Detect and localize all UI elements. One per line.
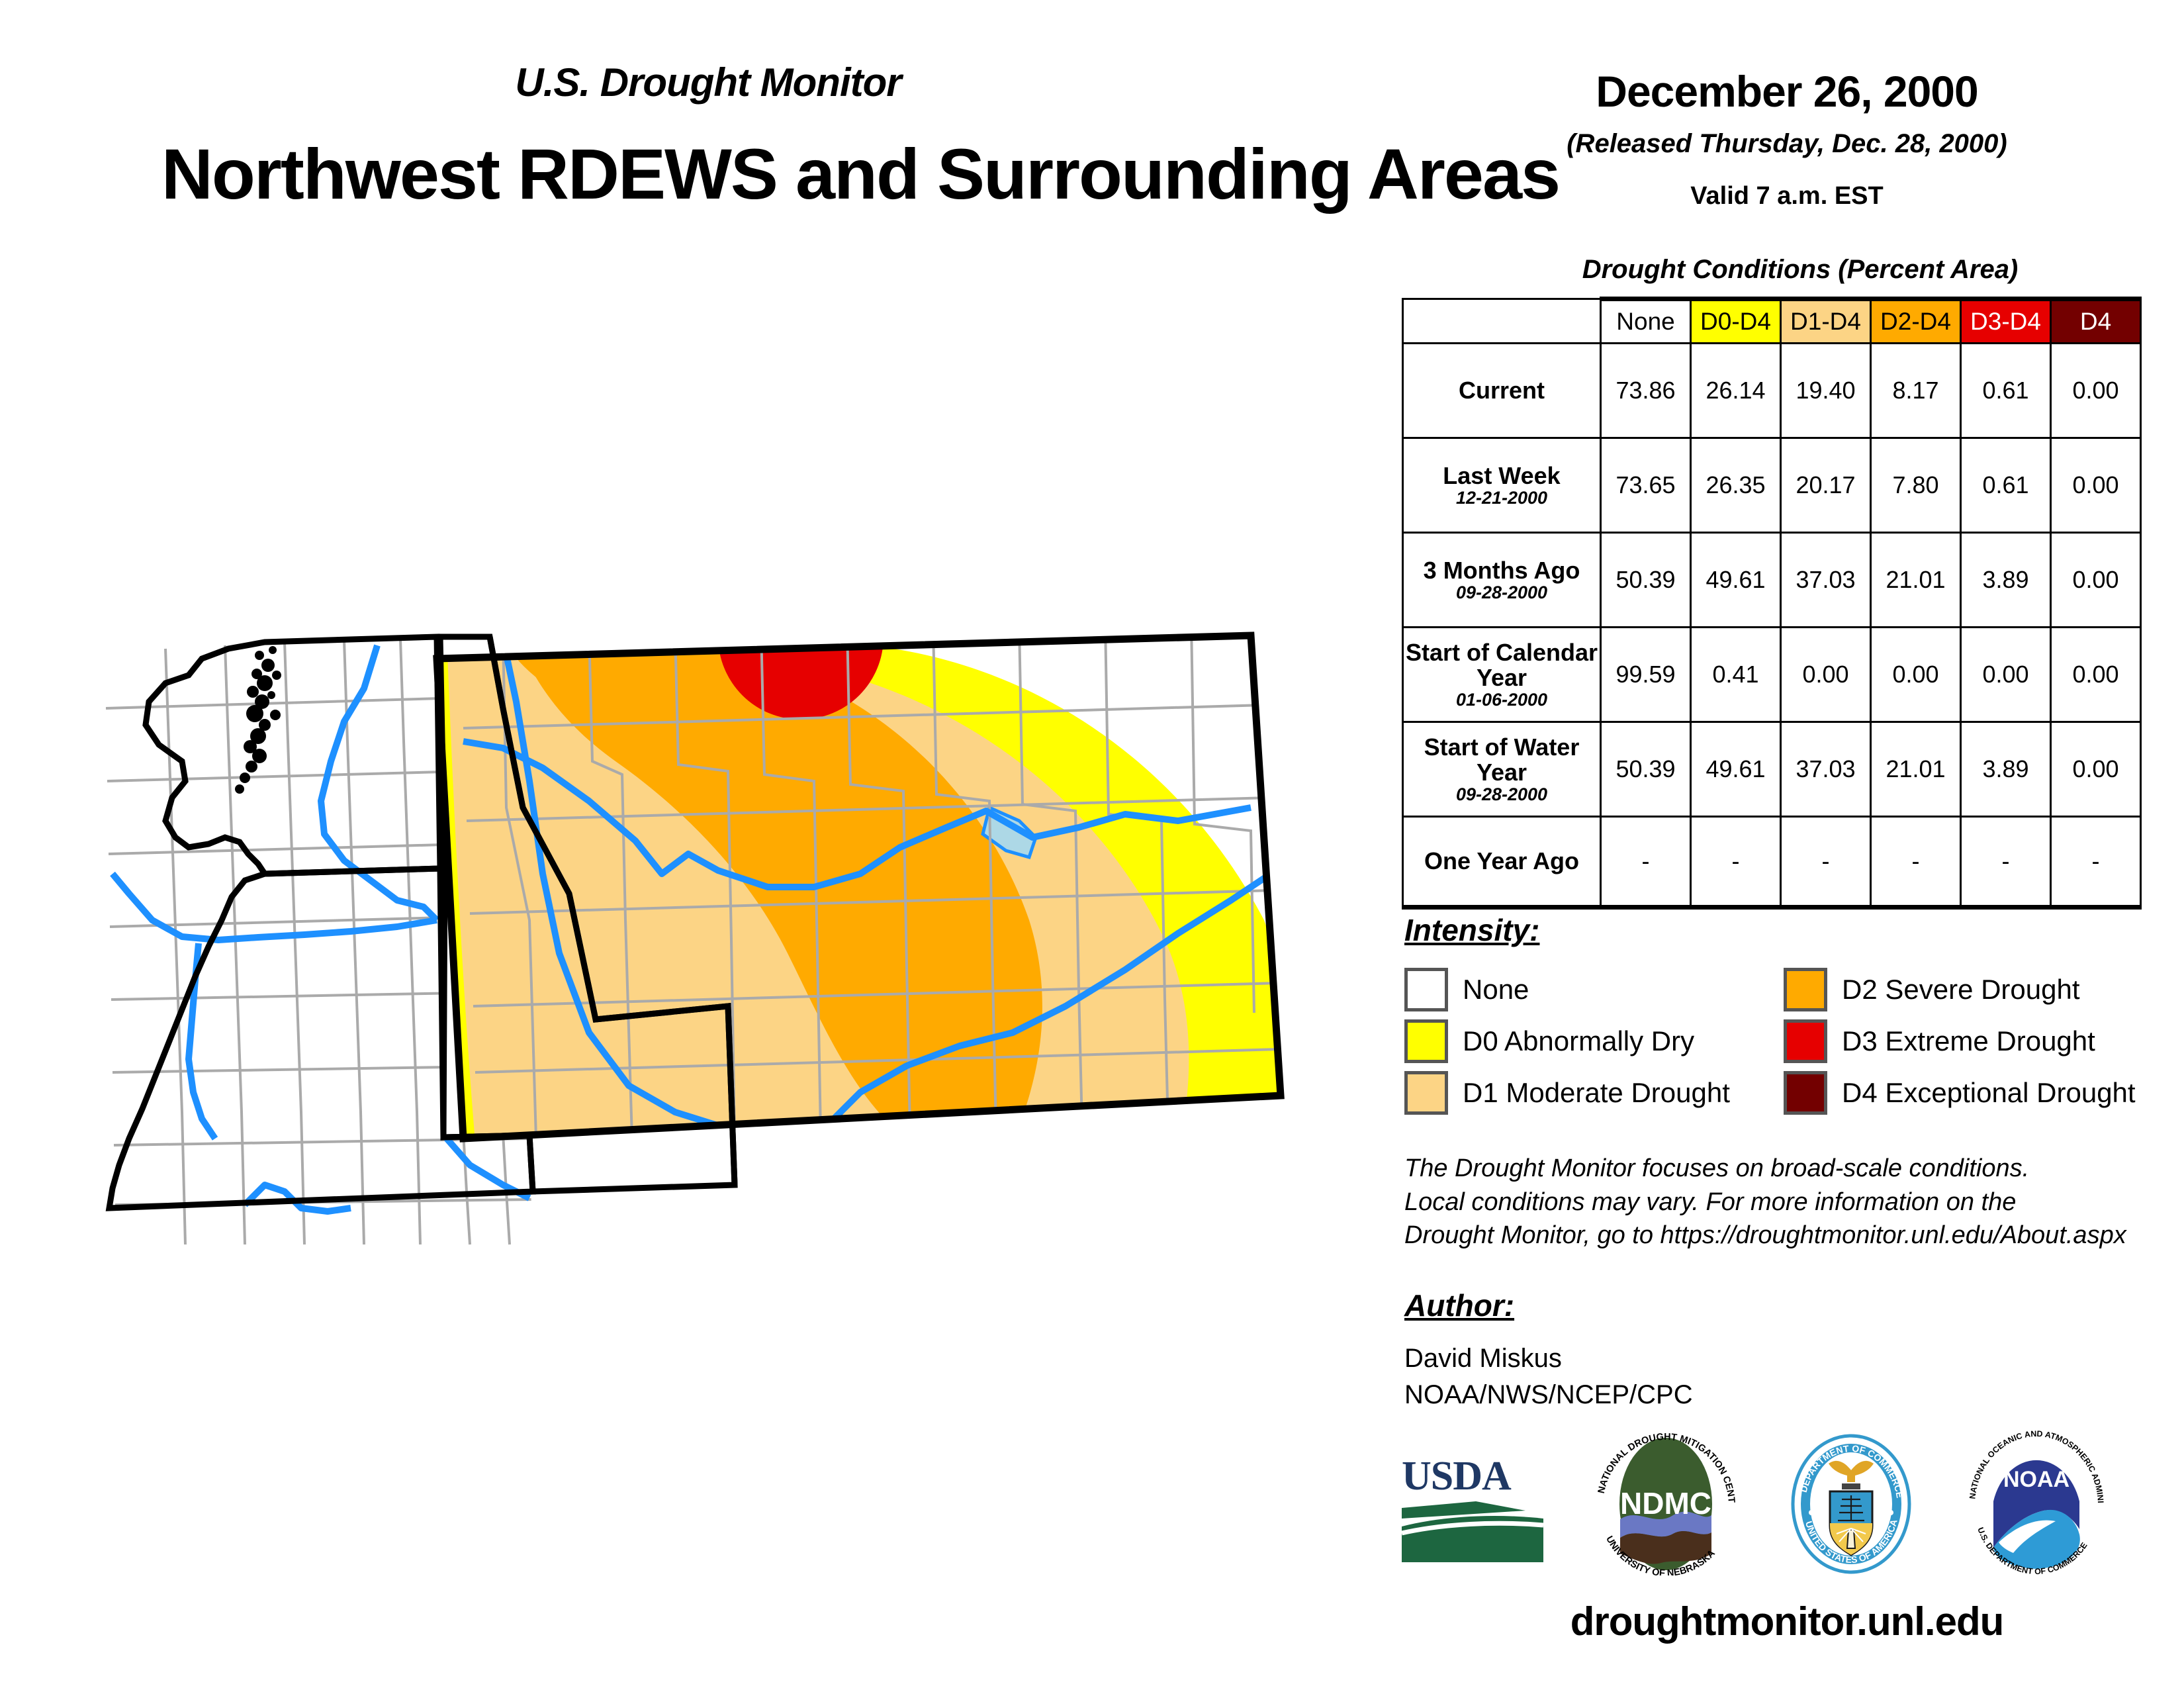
table-header-row: None D0-D4 D1-D4 D2-D4 D3-D4 D4 (1403, 299, 2141, 344)
column-header-d4: D4 (2051, 299, 2141, 344)
row-label-text: Start of Calendar Year (1406, 639, 1598, 691)
column-header-none: None (1601, 299, 1691, 344)
cell-wy-d4: 0.00 (2051, 722, 2141, 817)
cell-cy-d4: 0.00 (2051, 628, 2141, 722)
legend-swatch-d4 (1784, 1071, 1827, 1115)
row-label-date: 09-28-2000 (1405, 583, 1598, 602)
legend-item-d3: D3 Extreme Drought (1784, 1019, 2095, 1063)
row-label-one-year-ago: One Year Ago (1403, 817, 1601, 908)
row-label-text: One Year Ago (1424, 847, 1579, 874)
legend-item-d4: D4 Exceptional Drought (1784, 1071, 2136, 1115)
column-header-d0-d4: D0-D4 (1691, 299, 1781, 344)
author-name: David Miskus (1404, 1344, 1562, 1374)
cell-wy-d2: 21.01 (1871, 722, 1961, 817)
disclaimer-line-2: Local conditions may vary. For more info… (1404, 1186, 2126, 1219)
cell-1yr-d3: - (1961, 817, 2051, 908)
legend-label-d4: D4 Exceptional Drought (1842, 1077, 2136, 1109)
cell-cy-d0: 0.41 (1691, 628, 1781, 722)
cell-wy-d0: 49.61 (1691, 722, 1781, 817)
cell-3mo-none: 50.39 (1601, 533, 1691, 628)
disclaimer-line-3: Drought Monitor, go to https://droughtmo… (1404, 1219, 2126, 1252)
disclaimer-line-1: The Drought Monitor focuses on broad-sca… (1404, 1152, 2126, 1186)
cell-current-d0: 26.14 (1691, 344, 1781, 438)
table-row: Current 73.86 26.14 19.40 8.17 0.61 0.00 (1403, 344, 2141, 438)
row-label-3-months-ago: 3 Months Ago 09-28-2000 (1403, 533, 1601, 628)
drought-conditions-table: None D0-D4 D1-D4 D2-D4 D3-D4 D4 Current … (1402, 297, 2142, 910)
ndmc-logo-text: NDMC (1620, 1486, 1711, 1521)
legend-swatch-d3 (1784, 1019, 1827, 1063)
cell-1yr-d0: - (1691, 817, 1781, 908)
cell-lastweek-d0: 26.35 (1691, 438, 1781, 533)
table-row: Start of Water Year 09-28-2000 50.39 49.… (1403, 722, 2141, 817)
cell-wy-d1: 37.03 (1781, 722, 1871, 817)
noaa-logo: NOAA NATIONAL OCEANIC AND ATMOSPHERIC AD… (1959, 1430, 2115, 1575)
cell-wy-d3: 3.89 (1961, 722, 2051, 817)
legend-swatch-d0 (1404, 1019, 1448, 1063)
table-row: Start of Calendar Year 01-06-2000 99.59 … (1403, 628, 2141, 722)
legend-label-d1: D1 Moderate Drought (1463, 1077, 1730, 1109)
footer-url[interactable]: droughtmonitor.unl.edu (1456, 1599, 2118, 1644)
column-header-d1-d4: D1-D4 (1781, 299, 1871, 344)
row-label-text: Last Week (1443, 462, 1560, 489)
cell-3mo-d4: 0.00 (2051, 533, 2141, 628)
doc-logo: DEPARTMENT OF COMMERCE UNITED STATES OF … (1777, 1433, 1926, 1575)
cell-3mo-d1: 37.03 (1781, 533, 1871, 628)
table-caption: Drought Conditions (Percent Area) (1502, 255, 2098, 285)
legend-item-d1: D1 Moderate Drought (1404, 1071, 1730, 1115)
row-label-text: Start of Water Year (1424, 733, 1580, 786)
cell-wy-none: 50.39 (1601, 722, 1691, 817)
row-label-date: 01-06-2000 (1405, 690, 1598, 709)
release-date: (Released Thursday, Dec. 28, 2000) (1456, 129, 2118, 159)
legend-label-d3: D3 Extreme Drought (1842, 1025, 2095, 1057)
cell-1yr-none: - (1601, 817, 1691, 908)
column-header-d3-d4: D3-D4 (1961, 299, 2051, 344)
legend-item-d0: D0 Abnormally Dry (1404, 1019, 1694, 1063)
header-spacer (1403, 299, 1601, 344)
cell-current-d3: 0.61 (1961, 344, 2051, 438)
cell-1yr-d4: - (2051, 817, 2141, 908)
map-date: December 26, 2000 (1456, 66, 2118, 117)
cell-lastweek-d3: 0.61 (1961, 438, 2051, 533)
legend-swatch-none (1404, 968, 1448, 1011)
author-heading: Author: (1404, 1288, 1514, 1323)
legend-title: Intensity: (1404, 912, 1539, 948)
legend-label-none: None (1463, 974, 1529, 1006)
cell-current-d1: 19.40 (1781, 344, 1871, 438)
cell-1yr-d1: - (1781, 817, 1871, 908)
legend-swatch-d1 (1404, 1071, 1448, 1115)
cell-3mo-d3: 3.89 (1961, 533, 2051, 628)
row-label-last-week: Last Week 12-21-2000 (1403, 438, 1601, 533)
table-row: 3 Months Ago 09-28-2000 50.39 49.61 37.0… (1403, 533, 2141, 628)
usda-logo-text: USDA (1402, 1454, 1512, 1499)
cell-cy-none: 99.59 (1601, 628, 1691, 722)
legend-label-d2: D2 Severe Drought (1842, 974, 2080, 1006)
disclaimer: The Drought Monitor focuses on broad-sca… (1404, 1152, 2126, 1252)
cell-current-d4: 0.00 (2051, 344, 2141, 438)
cell-lastweek-none: 73.65 (1601, 438, 1691, 533)
ndmc-logo: NDMC NATIONAL DROUGHT MITIGATION CENTER … (1588, 1433, 1744, 1575)
page-subtitle: U.S. Drought Monitor (410, 60, 1006, 105)
legend-swatch-d2 (1784, 968, 1827, 1011)
valid-time: Valid 7 a.m. EST (1456, 182, 2118, 211)
row-label-date: 09-28-2000 (1405, 785, 1598, 804)
column-header-d2-d4: D2-D4 (1871, 299, 1961, 344)
table-row: Last Week 12-21-2000 73.65 26.35 20.17 7… (1403, 438, 2141, 533)
cell-cy-d2: 0.00 (1871, 628, 1961, 722)
row-label-start-calendar-year: Start of Calendar Year 01-06-2000 (1403, 628, 1601, 722)
cell-cy-d1: 0.00 (1781, 628, 1871, 722)
cell-lastweek-d2: 7.80 (1871, 438, 1961, 533)
cell-lastweek-d1: 20.17 (1781, 438, 1871, 533)
row-label-text: 3 Months Ago (1424, 557, 1580, 584)
cell-current-none: 73.86 (1601, 344, 1691, 438)
noaa-logo-text: NOAA (2003, 1467, 2070, 1492)
cell-cy-d3: 0.00 (1961, 628, 2051, 722)
drought-map[interactable] (66, 609, 1310, 1258)
row-label-date: 12-21-2000 (1405, 489, 1598, 507)
table-row: One Year Ago - - - - - - (1403, 817, 2141, 908)
row-label-current: Current (1403, 344, 1601, 438)
legend-item-d2: D2 Severe Drought (1784, 968, 2080, 1011)
cell-1yr-d2: - (1871, 817, 1961, 908)
author-org: NOAA/NWS/NCEP/CPC (1404, 1380, 1693, 1410)
legend-item-none: None (1404, 968, 1529, 1011)
legend-label-d0: D0 Abnormally Dry (1463, 1025, 1694, 1057)
cell-3mo-d0: 49.61 (1691, 533, 1781, 628)
row-label-text: Current (1459, 377, 1545, 404)
cell-lastweek-d4: 0.00 (2051, 438, 2141, 533)
usda-logo: USDA (1396, 1450, 1549, 1572)
row-label-start-water-year: Start of Water Year 09-28-2000 (1403, 722, 1601, 817)
cell-3mo-d2: 21.01 (1871, 533, 1961, 628)
cell-current-d2: 8.17 (1871, 344, 1961, 438)
